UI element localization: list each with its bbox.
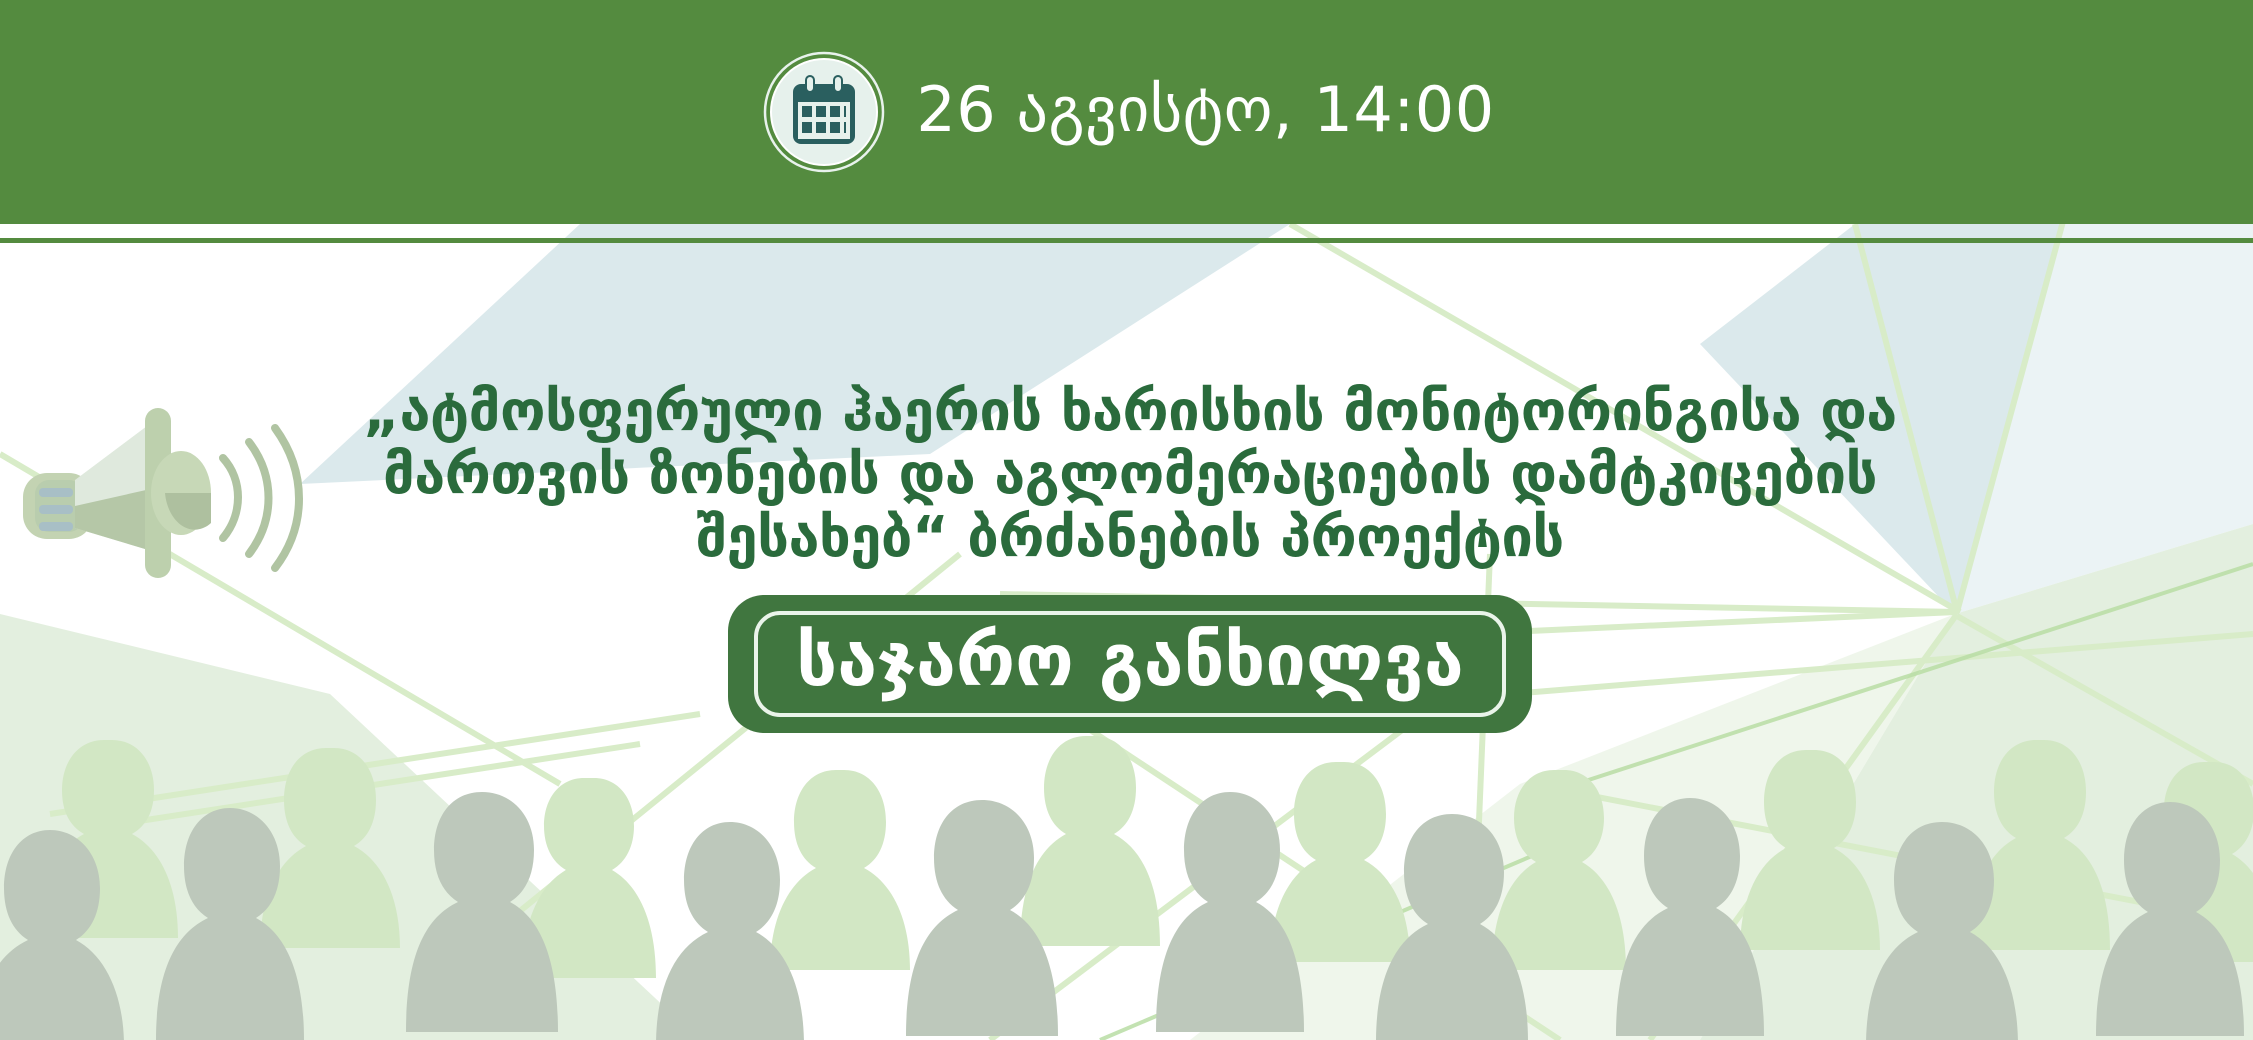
header-bar: 26 აგვისტო, 14:00 xyxy=(0,0,2253,224)
announcement-content: „ატმოსფერული ჰაერის ხარისხის მონიტორინგი… xyxy=(320,380,1940,733)
headline-line-1: „ატმოსფერული ჰაერის ხარისხის მონიტორინგი… xyxy=(320,380,1940,443)
badge-inner-border: საჯარო განხილვა xyxy=(754,611,1505,717)
megaphone-icon xyxy=(5,388,315,598)
crowd-silhouettes xyxy=(0,710,2253,1040)
event-date-text: 26 აგვისტო, 14:00 xyxy=(916,79,1494,145)
public-discussion-badge: საჯარო განხილვა xyxy=(728,595,1531,733)
header-divider-rule xyxy=(0,238,2253,243)
headline-line-2: მართვის ზონების და აგლომერაციების დამტკი… xyxy=(320,443,1940,506)
headline-line-3: შესახებ“ ბრძანების პროექტის xyxy=(320,506,1940,569)
calendar-icon xyxy=(758,46,890,178)
badge-label: საჯარო განხილვა xyxy=(796,621,1463,699)
event-announcement-banner: 26 აგვისტო, 14:00 „ატმოსფერული ჰაერის ხა… xyxy=(0,0,2253,1040)
